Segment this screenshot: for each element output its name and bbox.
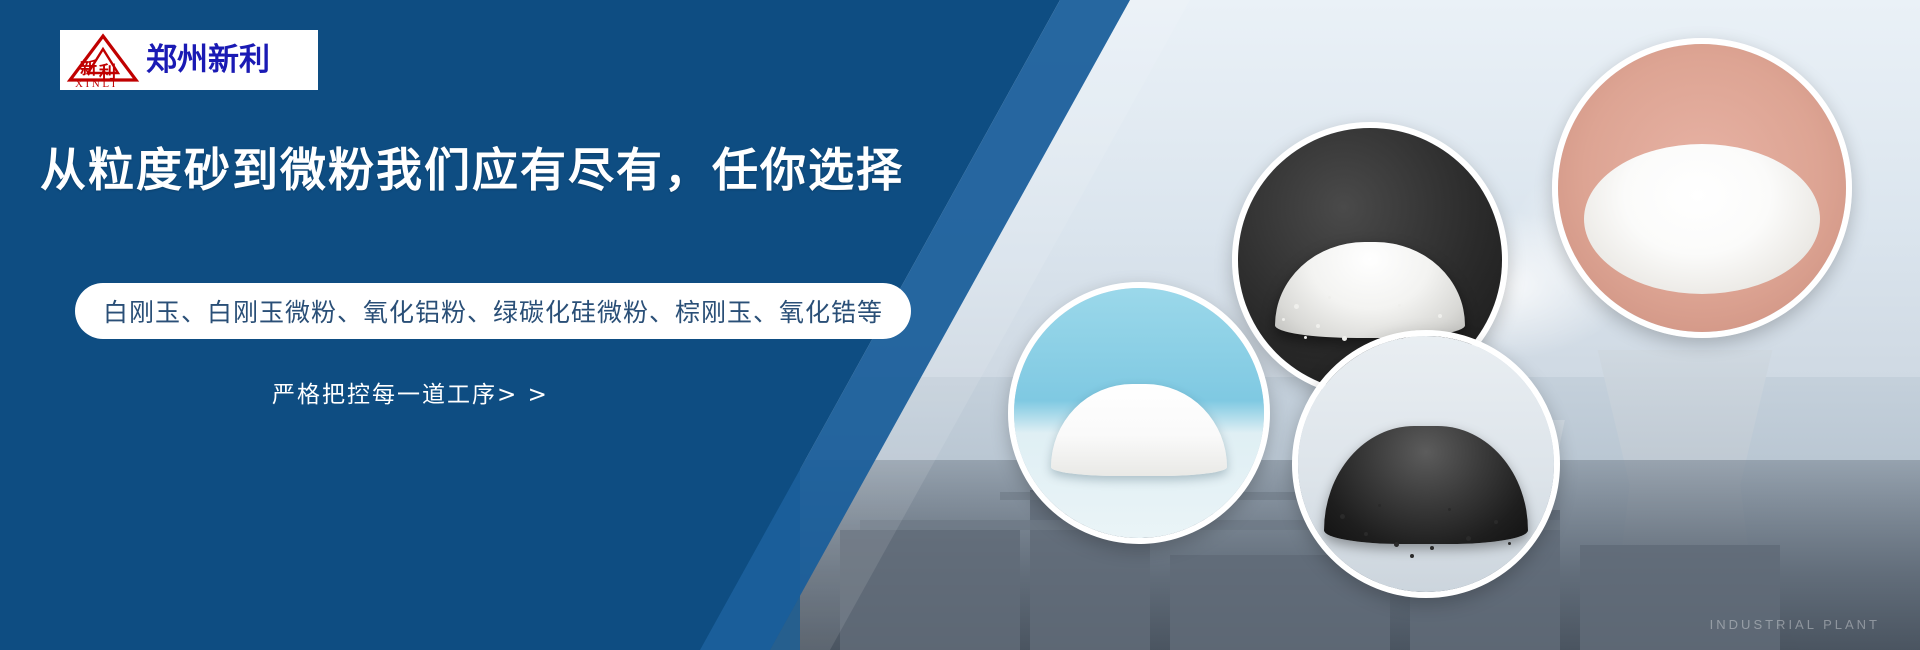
logo-company-name: 郑州新利 — [146, 45, 270, 76]
product-list-pill: 白刚玉、白刚玉微粉、氧化铝粉、绿碳化硅微粉、棕刚玉、氧化锆等 — [75, 283, 911, 339]
backdrop-watermark: INDUSTRIAL PLANT — [1710, 617, 1880, 632]
tagline-link[interactable]: 严格把控每一道工序> > — [272, 375, 549, 409]
plant-block — [1580, 545, 1780, 650]
photo-inner — [1558, 44, 1846, 332]
material-heap — [1275, 242, 1465, 338]
product-photo-powder-cone[interactable] — [1008, 282, 1270, 544]
photo-inner — [1014, 288, 1264, 538]
photo-inner — [1298, 336, 1554, 592]
promo-banner: INDUSTRIAL PLANT 新 利 XINLI 郑州新利 从粒度砂到微粉我… — [0, 0, 1920, 650]
material-heap — [1051, 384, 1227, 476]
material-heap — [1324, 426, 1528, 544]
company-logo[interactable]: 新 利 XINLI 郑州新利 — [60, 30, 318, 90]
svg-text:XINLI: XINLI — [75, 78, 118, 88]
headline: 从粒度砂到微粉我们应有尽有，任你选择 — [40, 144, 904, 197]
product-list-text: 白刚玉、白刚玉微粉、氧化铝粉、绿碳化硅微粉、棕刚玉、氧化锆等 — [103, 293, 883, 329]
svg-text:新: 新 — [80, 58, 97, 79]
material-heap — [1584, 144, 1820, 294]
product-photo-black-grit[interactable] — [1292, 330, 1560, 598]
product-photo-white-powder-plate[interactable] — [1552, 38, 1852, 338]
xinli-triangle-icon: 新 利 XINLI — [66, 32, 140, 88]
